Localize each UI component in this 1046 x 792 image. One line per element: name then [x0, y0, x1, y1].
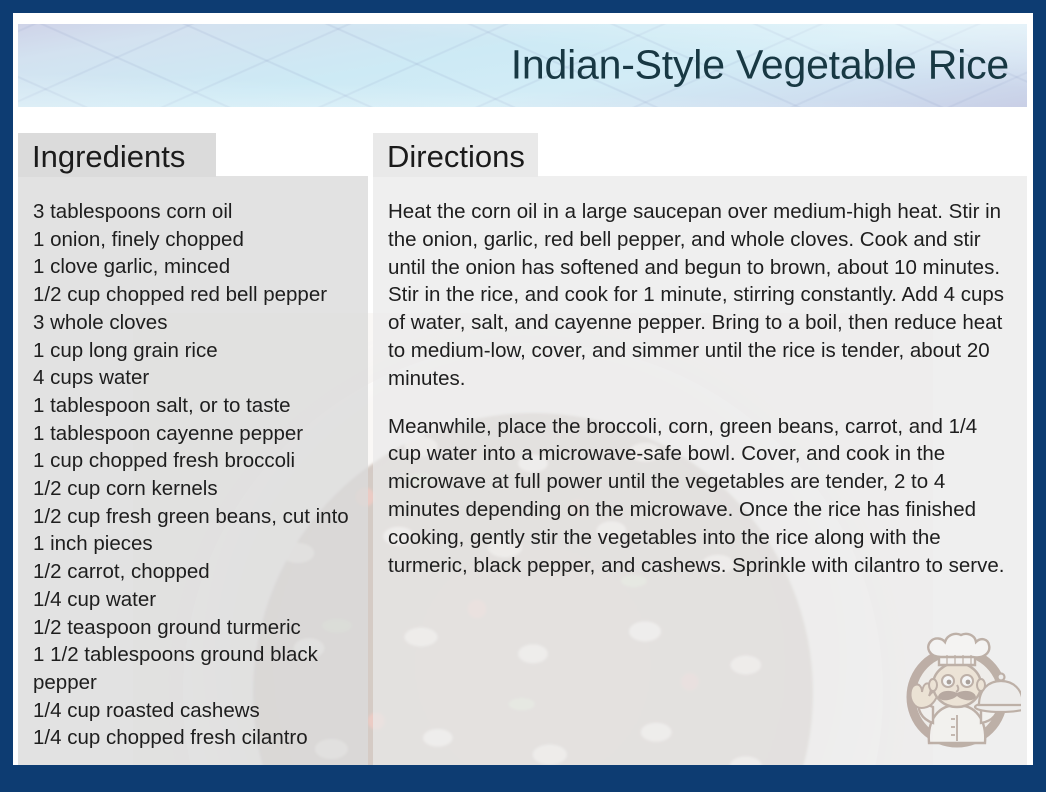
ingredient-item: 1/2 cup chopped red bell pepper: [33, 281, 354, 309]
ingredient-item: 1/4 cup water: [33, 586, 354, 614]
ingredient-item: 4 cups water: [33, 364, 354, 392]
ingredient-item: 1/2 cup corn kernels: [33, 475, 354, 503]
page-title: Indian-Style Vegetable Rice: [511, 43, 1009, 86]
ingredient-item: 3 whole cloves: [33, 309, 354, 337]
page-surface: Indian-Style Vegetable Rice 3 tablespoon…: [13, 13, 1033, 765]
directions-heading-label: Directions: [387, 141, 525, 172]
ingredient-item: 1/2 teaspoon ground turmeric: [33, 614, 354, 642]
ingredient-item: 1 cup long grain rice: [33, 337, 354, 365]
recipe-card: Indian-Style Vegetable Rice 3 tablespoon…: [0, 0, 1046, 792]
ingredient-item: 1/2 cup fresh green beans, cut into 1 in…: [33, 503, 354, 558]
ingredient-item: 1 cup chopped fresh broccoli: [33, 447, 354, 475]
directions-body: Heat the corn oil in a large saucepan ov…: [373, 176, 1027, 765]
section-header-directions: Directions: [373, 133, 538, 177]
ingredient-item: 1 tablespoon salt, or to taste: [33, 392, 354, 420]
ingredient-item: 1 onion, finely chopped: [33, 226, 354, 254]
ingredients-list: 3 tablespoons corn oil1 onion, finely ch…: [33, 198, 354, 752]
directions-text: Heat the corn oil in a large saucepan ov…: [388, 198, 1013, 579]
ingredient-item: 1/2 carrot, chopped: [33, 558, 354, 586]
ingredients-panel: 3 tablespoons corn oil1 onion, finely ch…: [18, 176, 368, 765]
direction-paragraph: Meanwhile, place the broccoli, corn, gre…: [388, 413, 1013, 580]
ingredients-body: 3 tablespoons corn oil1 onion, finely ch…: [18, 176, 368, 765]
directions-panel: Heat the corn oil in a large saucepan ov…: [373, 176, 1027, 765]
direction-paragraph: Heat the corn oil in a large saucepan ov…: [388, 198, 1013, 393]
title-banner: Indian-Style Vegetable Rice: [18, 24, 1027, 107]
ingredient-item: 1 tablespoon cayenne pepper: [33, 420, 354, 448]
section-header-ingredients: Ingredients: [18, 133, 216, 177]
ingredient-item: 1/4 cup roasted cashews: [33, 697, 354, 725]
ingredients-heading-label: Ingredients: [32, 141, 185, 172]
ingredient-item: 1 1/2 tablespoons ground black pepper: [33, 641, 354, 696]
ingredient-item: 3 tablespoons corn oil: [33, 198, 354, 226]
ingredient-item: 1/4 cup chopped fresh cilantro: [33, 724, 354, 752]
ingredient-item: 1 clove garlic, minced: [33, 253, 354, 281]
